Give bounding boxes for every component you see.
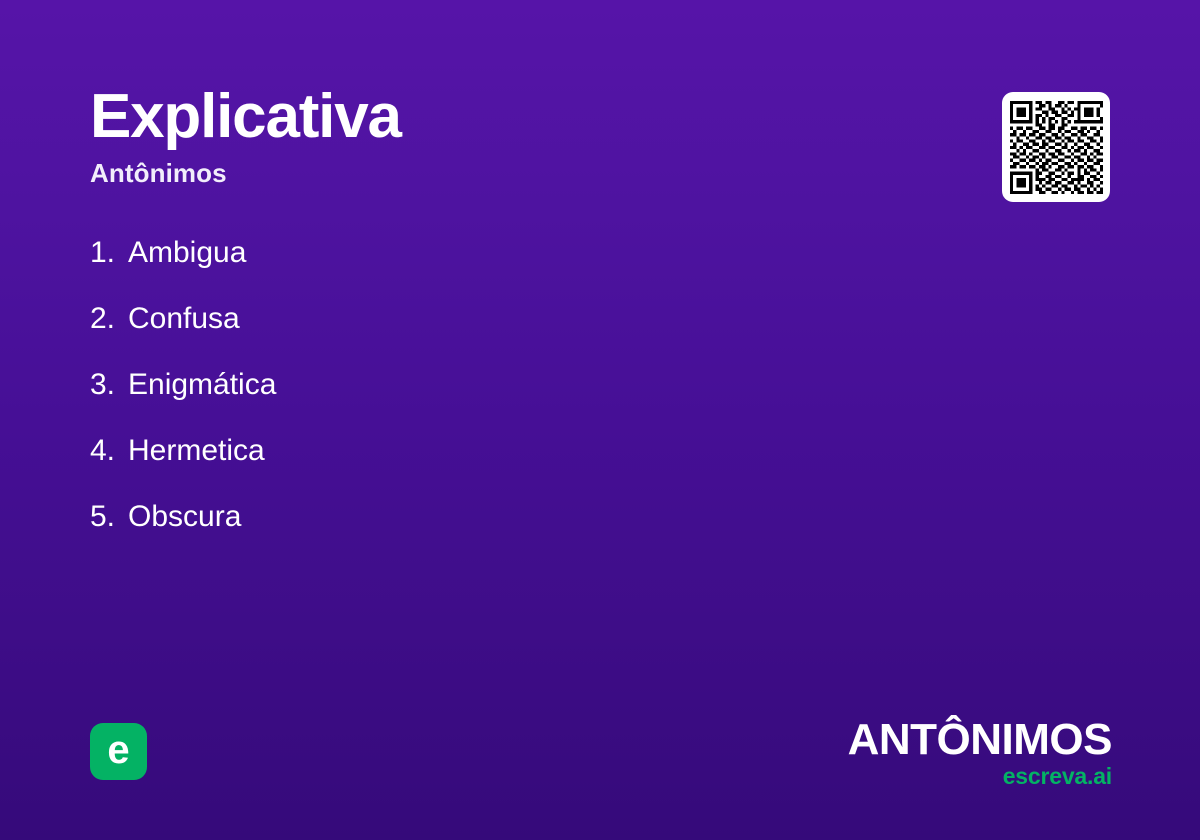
list-item-label: Confusa (128, 304, 240, 334)
list-item-index: 3. (90, 370, 128, 400)
brand-wordmark: ANTÔNIMOS escreva.ai (848, 718, 1112, 788)
list-item-index: 4. (90, 436, 128, 466)
list-item-index: 1. (90, 238, 128, 268)
poster-canvas: Explicativa Antônimos 1.Ambigua2.Confusa… (0, 0, 1200, 840)
list-item-index: 2. (90, 304, 128, 334)
list-item-label: Ambigua (128, 238, 246, 268)
wordmark-title: ANTÔNIMOS (848, 718, 1112, 762)
list-item-label: Obscura (128, 502, 241, 532)
wordmark-domain: escreva.ai (848, 765, 1112, 788)
list-item: 4.Hermetica (90, 436, 276, 466)
page-subtitle: Antônimos (90, 160, 401, 186)
list-item-label: Enigmática (128, 370, 276, 400)
list-item: 1.Ambigua (90, 238, 276, 268)
header-block: Explicativa Antônimos (90, 86, 401, 186)
page-title: Explicativa (90, 86, 401, 148)
list-item: 5.Obscura (90, 502, 276, 532)
list-item: 3.Enigmática (90, 370, 276, 400)
list-item-index: 5. (90, 502, 128, 532)
escreva-logo-icon[interactable]: e (90, 723, 147, 780)
qr-code-card[interactable] (1002, 92, 1110, 202)
brand-mark-letter: e (107, 730, 129, 770)
list-item-label: Hermetica (128, 436, 265, 466)
qr-code-icon (1010, 101, 1103, 194)
list-item: 2.Confusa (90, 304, 276, 334)
antonym-list: 1.Ambigua2.Confusa3.Enigmática4.Hermetic… (90, 238, 276, 568)
